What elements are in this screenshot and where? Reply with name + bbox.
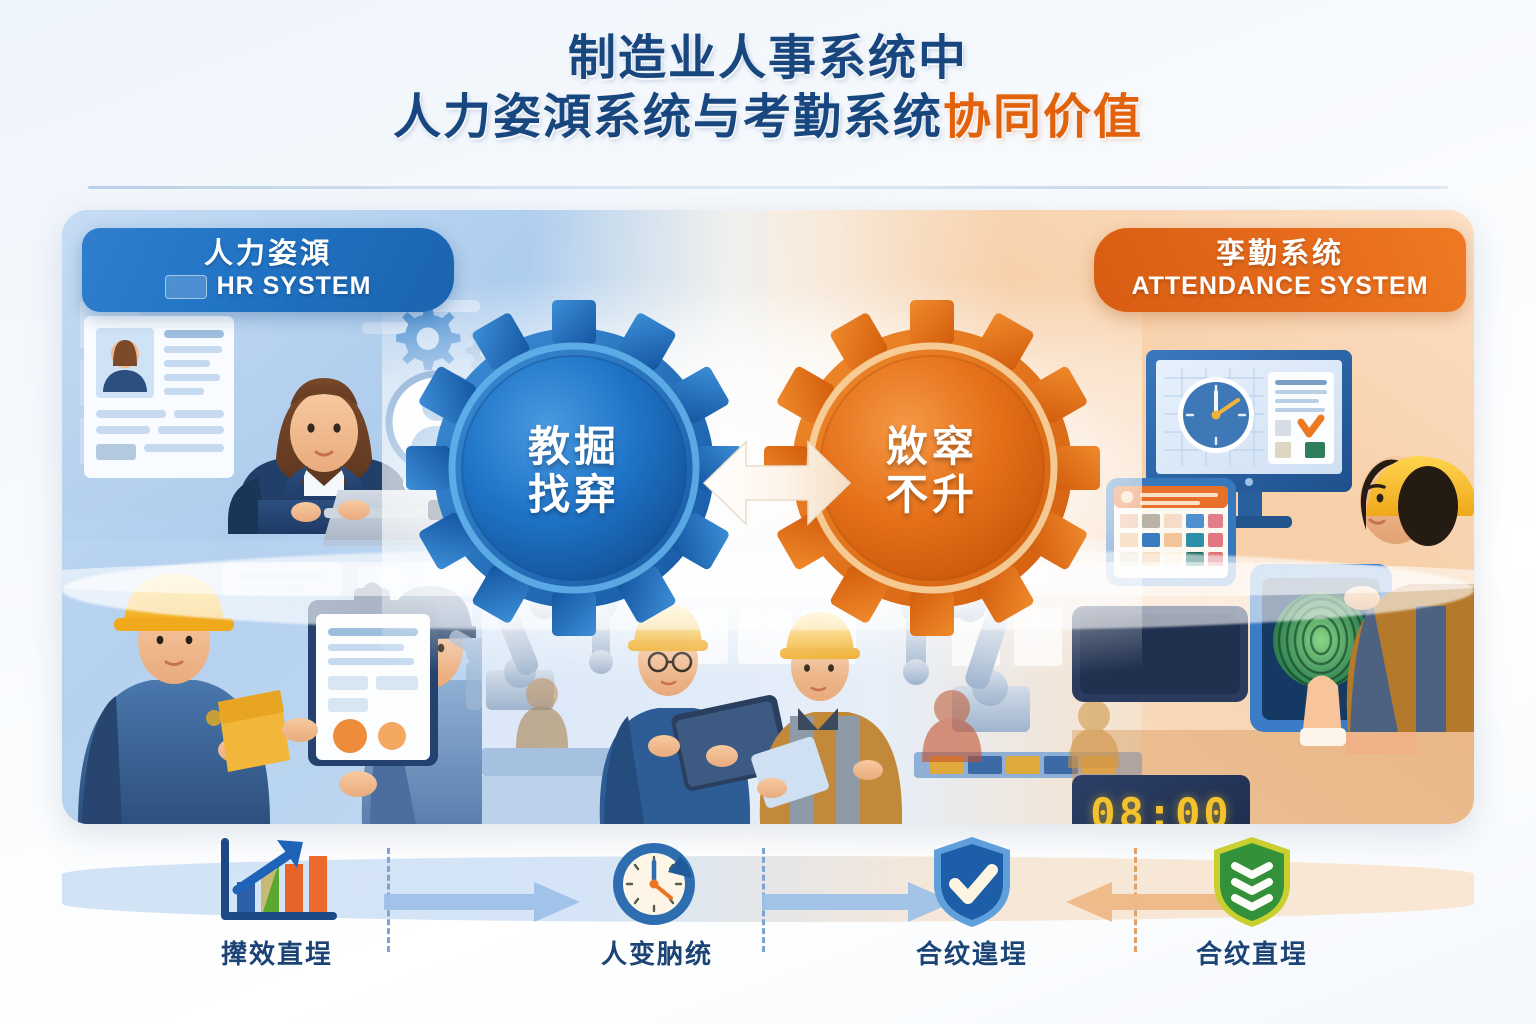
- flow-item-4[interactable]: 合纹直埕: [1137, 836, 1367, 971]
- bottom-flow-row: 撵效直埕 人变肭统: [62, 828, 1474, 1018]
- led-clock-panel: 08:00: [1072, 775, 1250, 824]
- hr-gear[interactable]: 教掘 找穽: [404, 298, 744, 643]
- flow-item-3[interactable]: 合纹遑埕: [857, 836, 1087, 971]
- bar-chart-growth-icon: [162, 836, 392, 928]
- hr-badge-chip-icon: [165, 275, 207, 299]
- title-line-1: 制造业人事系统中: [0, 30, 1536, 89]
- shield-check-icon: [857, 836, 1087, 928]
- flow-item-1-label: 撵效直埕: [162, 934, 392, 971]
- flow-item-2-label: 人变肭统: [542, 934, 772, 971]
- title-line-2-accent: 协同价值: [943, 91, 1143, 144]
- page-title: 制造业人事系统中 人力姿澒系统与考勤系统协同价值: [0, 30, 1536, 147]
- shield-chevrons-icon: [1137, 836, 1367, 928]
- bidirectional-arrow-icon: [702, 428, 852, 538]
- hr-system-badge[interactable]: 人力姿澒 HR SYSTEM: [82, 228, 454, 312]
- clock-rotate-icon: [542, 836, 772, 928]
- flow-item-2[interactable]: 人变肭统: [542, 836, 772, 971]
- hr-badge-en-label: HR SYSTEM: [217, 272, 372, 301]
- attendance-system-badge[interactable]: 孪勤系统 ATTENDANCE SYSTEM: [1094, 228, 1466, 312]
- flow-item-4-label: 合纹直埕: [1137, 934, 1367, 971]
- title-line-2-main: 人力姿澒系统与考勤系统: [393, 91, 943, 144]
- attendance-badge-cn-label: 孪勤系统: [1216, 239, 1344, 269]
- title-line-2: 人力姿澒系统与考勤系统协同价值: [0, 89, 1536, 148]
- hr-badge-cn-label: 人力姿澒: [204, 239, 332, 269]
- led-clock-time: 08:00: [1090, 789, 1231, 825]
- flow-item-1[interactable]: 撵效直埕: [162, 836, 392, 971]
- resume-card: [84, 316, 234, 478]
- main-illustration-card: 教掘 找穽: [62, 210, 1474, 824]
- flow-item-3-label: 合纹遑埕: [857, 934, 1087, 971]
- attendance-badge-en-label: ATTENDANCE SYSTEM: [1131, 272, 1428, 301]
- title-divider: [88, 186, 1448, 189]
